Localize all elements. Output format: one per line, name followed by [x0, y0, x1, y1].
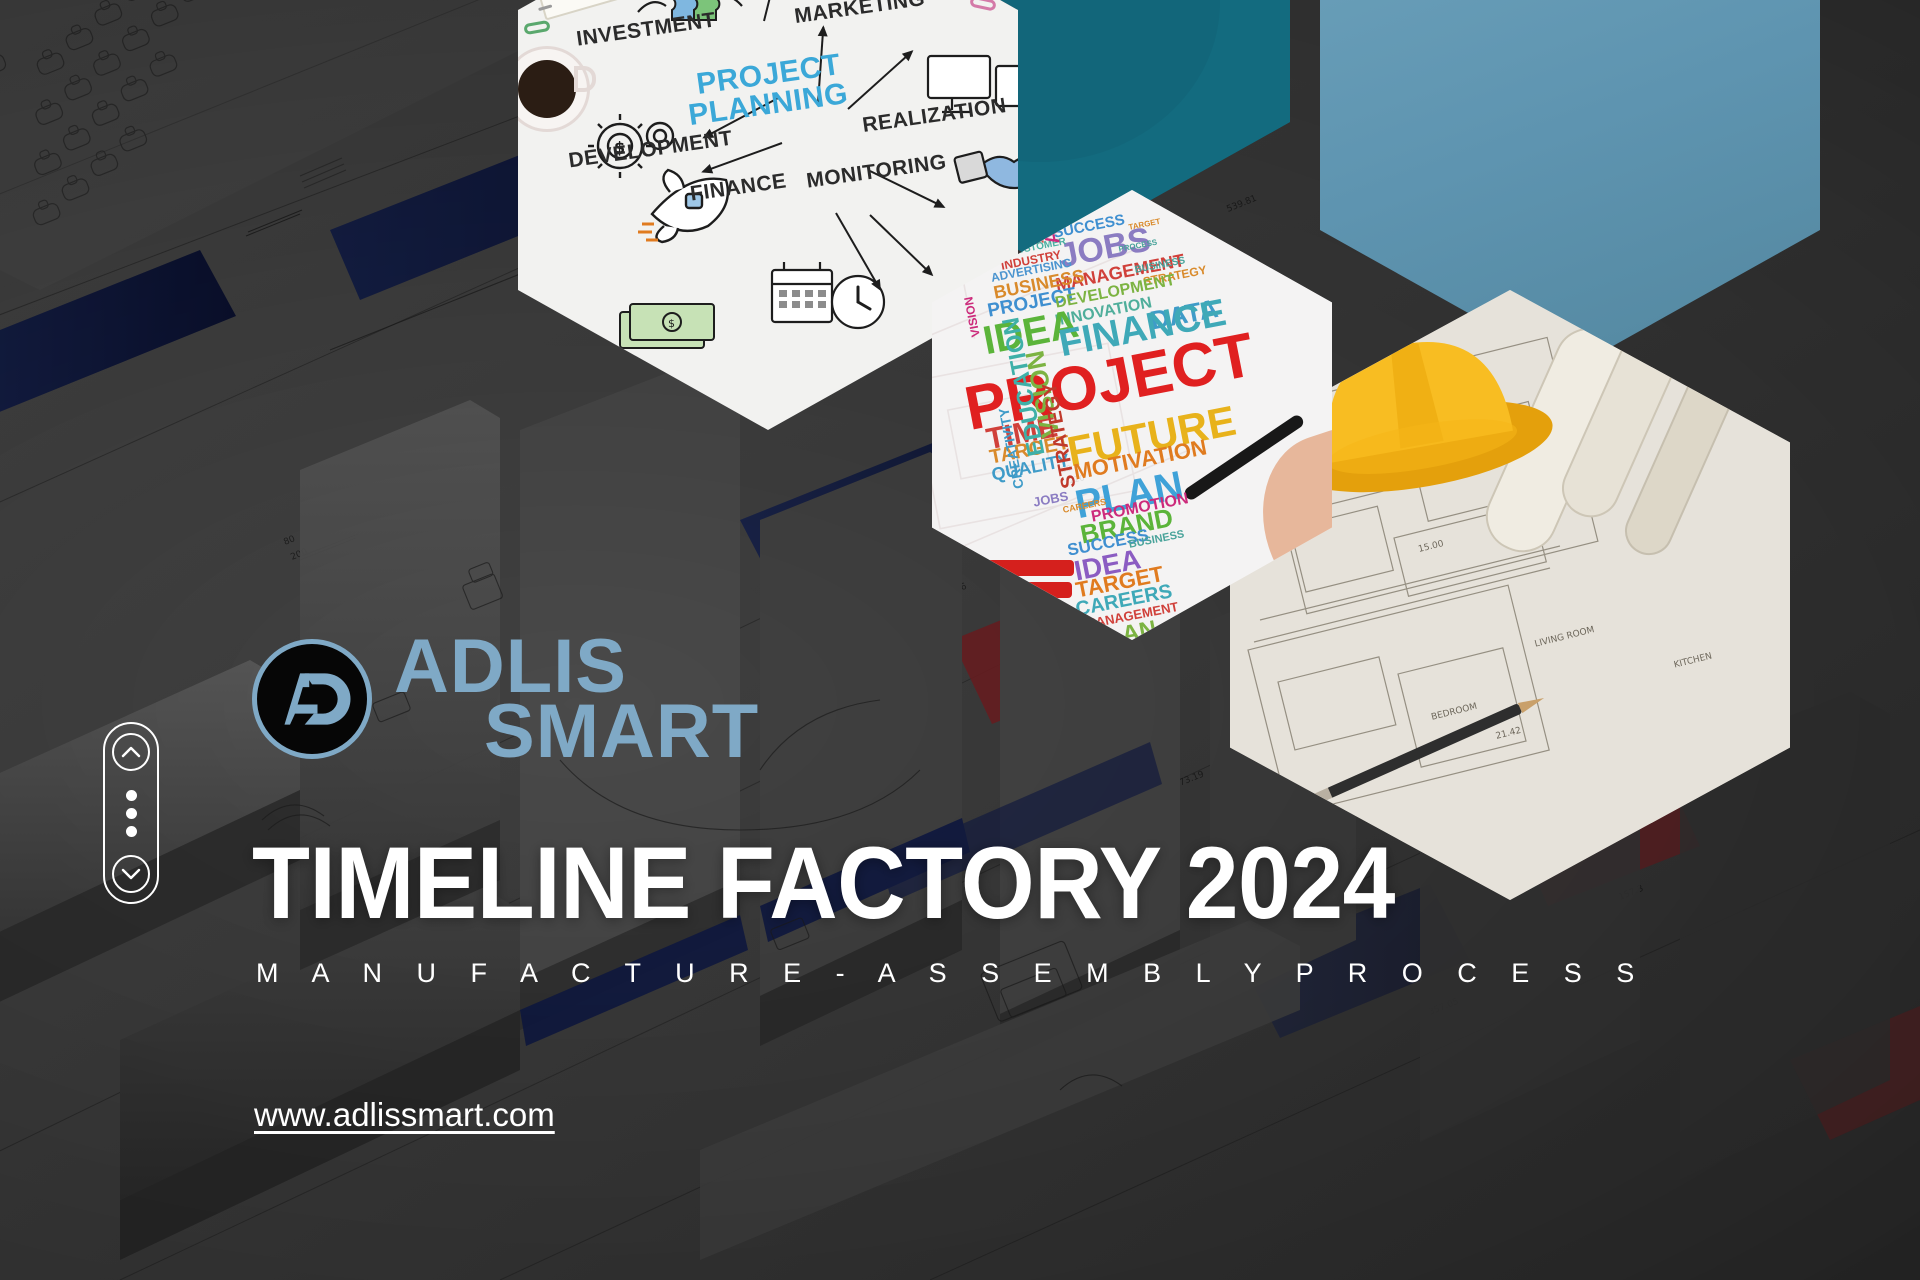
website-url-link[interactable]: www.adlissmart.com [254, 1096, 555, 1134]
page-subtitle: M A N U F A C T U R E - A S S E M B L Y … [256, 958, 1648, 989]
chevron-down-icon[interactable] [112, 855, 150, 893]
brand-lockup: ADLIS SMART [252, 634, 759, 765]
slide-navigation-pill[interactable] [103, 722, 159, 904]
brand-line-2: SMART [394, 699, 759, 764]
three-dots-icon[interactable] [126, 790, 137, 837]
chevron-up-icon[interactable] [112, 733, 150, 771]
adlis-ad-monogram-icon [252, 639, 372, 759]
page-title: TIMELINE FACTORY 2024 [252, 832, 1395, 934]
